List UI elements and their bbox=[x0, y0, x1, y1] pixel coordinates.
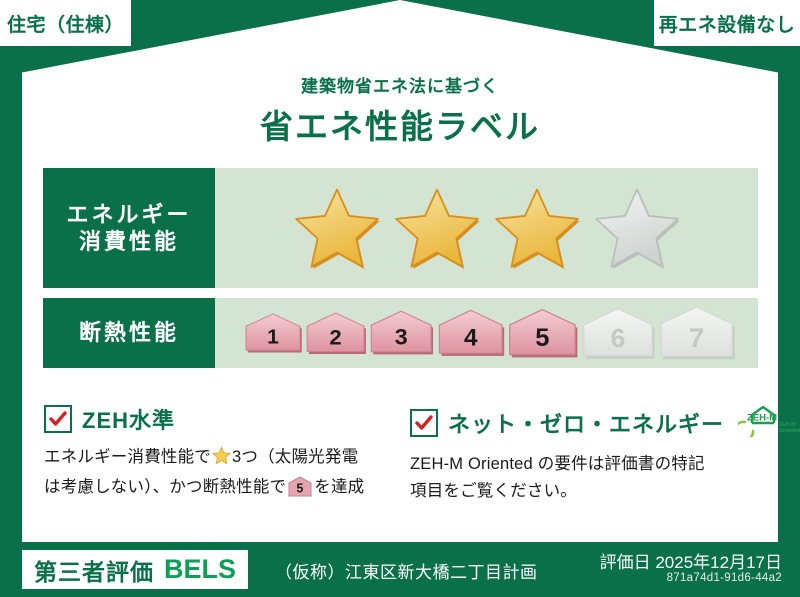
net-zero-energy-header: ネット・ゼロ・エネルギー ZEH-M ZEH-M Oriented bbox=[410, 403, 780, 442]
bels-badge: 第三者評価 BELS bbox=[22, 550, 248, 589]
insulation-step-value: 7 bbox=[689, 322, 704, 353]
insulation-step-value: 4 bbox=[464, 325, 478, 352]
label-subtitle: 建築物省エネ法に基づく bbox=[0, 72, 800, 97]
zeh-desc-part2: は考慮しない）、かつ断熱性能で bbox=[44, 478, 286, 496]
insulation-step-value: 1 bbox=[267, 326, 279, 348]
star-empty-icon bbox=[593, 186, 681, 270]
renewable-energy-tag: 再エネ設備なし bbox=[654, 0, 800, 46]
insulation-step-empty: 7 bbox=[657, 303, 736, 363]
insulation-step-scale: 1234567 bbox=[215, 298, 758, 368]
insulation-step-empty: 6 bbox=[580, 305, 656, 362]
insulation-step-filled: 3 bbox=[368, 308, 434, 357]
zeh-desc-star-count: 3つ（太陽光発電 bbox=[232, 448, 358, 466]
energy-performance-label: エネルギー 消費性能 bbox=[43, 168, 215, 288]
zeh-m-logo-text: ZEH-M bbox=[747, 413, 777, 424]
net-zero-energy-title: ネット・ゼロ・エネルギー bbox=[448, 407, 724, 439]
zeh-m-oriented-logo: ZEH-M ZEH-M Oriented bbox=[738, 403, 800, 442]
check-icon bbox=[49, 411, 67, 427]
star-filled-icon bbox=[293, 186, 381, 270]
net-zero-energy-criterion: ネット・ゼロ・エネルギー ZEH-M ZEH-M Oriented ZEH-M … bbox=[410, 403, 780, 504]
insulation-step-filled: 1 bbox=[243, 311, 303, 355]
zeh-desc-part3: を達成 bbox=[314, 478, 364, 496]
insulation-performance-label: 断熱性能 bbox=[43, 298, 215, 368]
net-zero-desc-line1: ZEH-M Oriented の要件は評価書の特記 bbox=[410, 455, 705, 473]
zeh-standard-checkbox[interactable] bbox=[44, 405, 72, 433]
insulation-step-value: 5 bbox=[535, 324, 549, 352]
zeh-standard-header: ZEH水準 bbox=[44, 403, 424, 435]
evaluation-date: 評価日 2025年12月17日 bbox=[600, 548, 782, 573]
insulation-step-value: 2 bbox=[329, 325, 341, 350]
zeh-standard-criterion: ZEH水準 エネルギー消費性能で3つ（太陽光発電 は考慮しない）、かつ断熱性能で… bbox=[44, 403, 424, 505]
bels-energy-label: 住宅（住棟） 再エネ設備なし 建築物省エネ法に基づく 省エネ性能ラベル エネルギ… bbox=[0, 0, 800, 597]
evaluation-id: 871a74d1-91d6-44a2 bbox=[667, 572, 782, 584]
zeh-desc-part1: エネルギー消費性能で bbox=[44, 448, 211, 466]
energy-performance-row: エネルギー 消費性能 bbox=[43, 168, 758, 288]
label-footer: 第三者評価 BELS （仮称）江東区新大橋二丁目計画 評価日 2025年12月1… bbox=[0, 542, 800, 597]
bels-badge-en-label: BELS bbox=[164, 554, 236, 585]
insulation-step-value: 3 bbox=[395, 324, 408, 350]
inline-house-badge-value: 5 bbox=[297, 481, 304, 495]
insulation-performance-label-line1: 断熱性能 bbox=[79, 319, 179, 347]
insulation-step-filled: 5 bbox=[506, 306, 579, 360]
label-title: 省エネ性能ラベル bbox=[0, 100, 800, 148]
building-type-tag-label: 住宅（住棟） bbox=[7, 10, 124, 37]
energy-performance-label-line2: 消費性能 bbox=[79, 228, 179, 256]
building-type-tag: 住宅（住棟） bbox=[0, 0, 131, 46]
renewable-energy-tag-label: 再エネ設備なし bbox=[659, 10, 796, 37]
energy-performance-label-line1: エネルギー bbox=[66, 201, 191, 229]
star-filled-icon bbox=[493, 186, 581, 270]
energy-star-rating bbox=[215, 168, 758, 288]
inline-house-badge: 5 bbox=[288, 476, 312, 506]
check-icon bbox=[415, 415, 433, 431]
zeh-standard-title: ZEH水準 bbox=[82, 403, 175, 435]
zeh-standard-description: エネルギー消費性能で3つ（太陽光発電 は考慮しない）、かつ断熱性能で5を達成 bbox=[44, 444, 424, 505]
project-name: （仮称）江東区新大橋二丁目計画 bbox=[275, 558, 538, 583]
bels-badge-jp-label: 第三者評価 bbox=[34, 553, 154, 587]
net-zero-desc-line2: 項目をご覧ください。 bbox=[410, 482, 577, 500]
insulation-step-filled: 2 bbox=[304, 310, 367, 357]
star-filled-icon bbox=[393, 186, 481, 270]
net-zero-energy-description: ZEH-M Oriented の要件は評価書の特記 項目をご覧ください。 bbox=[410, 451, 780, 504]
insulation-step-value: 6 bbox=[610, 323, 625, 353]
insulation-step-filled: 4 bbox=[436, 307, 506, 359]
insulation-performance-row: 断熱性能 1234567 bbox=[43, 298, 758, 368]
zeh-m-logo-sub2: Oriented bbox=[779, 428, 800, 434]
inline-star-icon bbox=[212, 446, 231, 474]
net-zero-energy-checkbox[interactable] bbox=[410, 409, 438, 437]
